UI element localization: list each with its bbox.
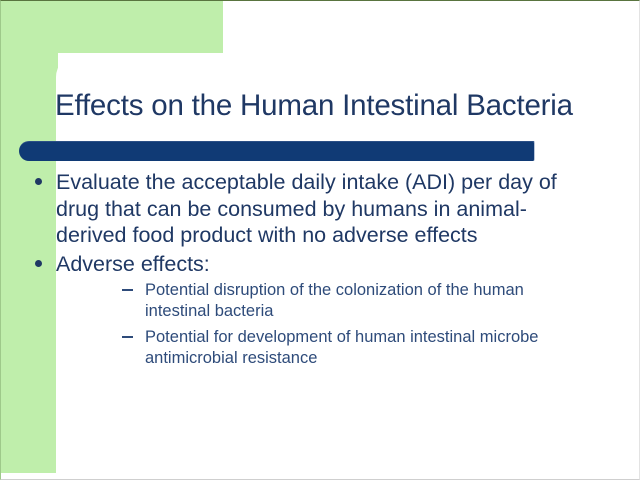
sub-bullet-text: Potential disruption of the colonization… [145,280,556,321]
slide-body: Evaluate the acceptable daily intake (AD… [1,169,640,374]
bullet-list: Evaluate the acceptable daily intake (AD… [1,169,640,368]
bullet-dash-icon [122,336,133,338]
bullet-text: Adverse effects: [56,251,596,278]
list-item: Potential disruption of the colonization… [56,280,596,321]
list-item: Evaluate the acceptable daily intake (AD… [1,169,640,249]
bullet-dot-icon [35,178,42,185]
title-accent-bar [19,141,535,161]
list-item: Potential for development of human intes… [56,327,596,368]
list-item: Adverse effects: Potential disruption of… [1,251,640,369]
presentation-slide: Effects on the Human Intestinal Bacteria… [0,0,640,480]
slide-title: Effects on the Human Intestinal Bacteria [55,89,635,123]
sub-bullet-text: Potential for development of human intes… [145,327,556,368]
sub-bullet-list: Potential disruption of the colonization… [56,280,596,368]
bullet-dash-icon [122,289,133,291]
bullet-text: Evaluate the acceptable daily intake (AD… [56,169,596,249]
bullet-dot-icon [35,260,42,267]
